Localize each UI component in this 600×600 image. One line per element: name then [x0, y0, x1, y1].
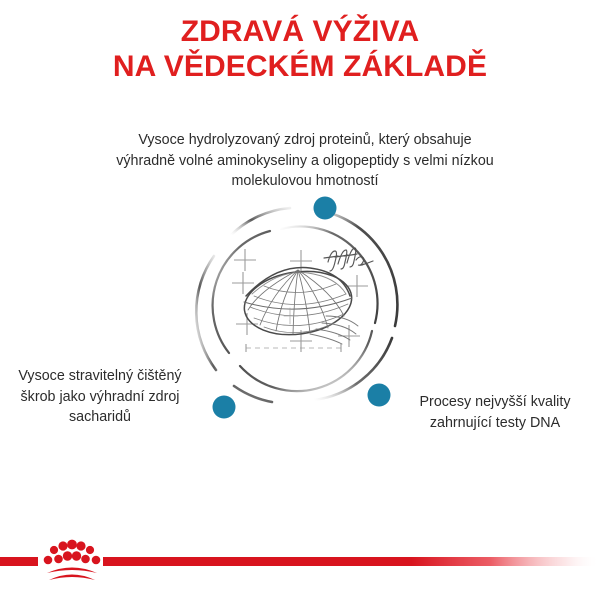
handwritten-annotation — [324, 248, 373, 271]
brand-bar-left — [0, 557, 38, 566]
kibble-sketch — [240, 265, 358, 344]
benefit-text-right: Procesy nejvyšší kvality zahrnující test… — [400, 392, 590, 433]
infographic-page: ZDRAVÁ VÝŽIVA NA VĚDECKÉM ZÁKLADĚ Vysoce… — [0, 0, 600, 600]
page-title: ZDRAVÁ VÝŽIVA NA VĚDECKÉM ZÁKLADĚ — [0, 14, 600, 84]
crosshair-marks — [232, 249, 368, 352]
node-dot-bottom-left — [213, 396, 236, 419]
footer-brand-bar — [0, 520, 600, 600]
node-dot-top — [314, 197, 337, 220]
benefit-text-top: Vysoce hydrolyzovaný zdroj proteinů, kte… — [110, 130, 500, 192]
benefit-text-left: Vysoce stravitelný čištěný škrob jako vý… — [2, 366, 198, 428]
brand-bar-right — [103, 557, 600, 566]
central-diagram — [186, 190, 416, 420]
page-title-line-2: NA VĚDECKÉM ZÁKLADĚ — [0, 49, 600, 84]
royal-canin-crown — [44, 540, 101, 580]
node-dot-right — [368, 384, 391, 407]
outer-ring-arcs — [196, 208, 397, 402]
page-title-line-1: ZDRAVÁ VÝŽIVA — [0, 14, 600, 49]
